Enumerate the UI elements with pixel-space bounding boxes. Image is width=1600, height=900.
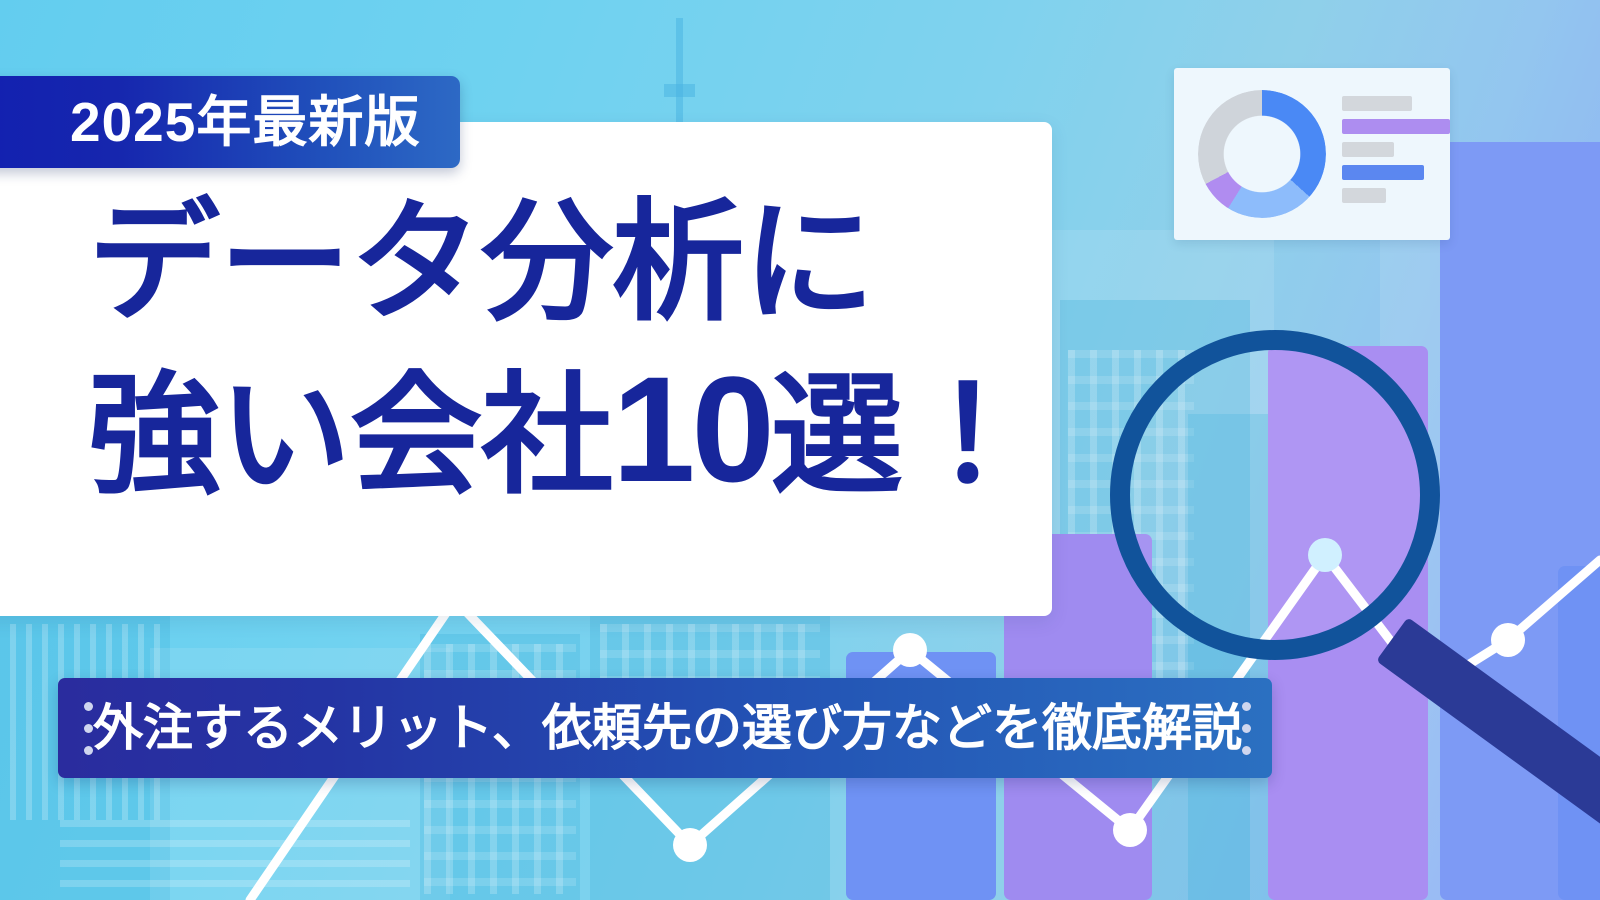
edition-badge-label: 2025年最新版 bbox=[70, 95, 420, 150]
title-line-1: データ分析に bbox=[88, 196, 1028, 331]
poster-canvas: データ分析に 強い会社10選！ 2025年最新版 外注するメリット、依頼先の選び… bbox=[0, 0, 1600, 900]
subtitle-bar: 外注するメリット、依頼先の選び方などを徹底解説 bbox=[58, 678, 1272, 778]
trend-point bbox=[1491, 623, 1525, 657]
magnifier-ring-icon bbox=[1110, 330, 1440, 660]
trend-point bbox=[1113, 813, 1147, 847]
dots-left-decoration bbox=[84, 702, 93, 755]
title-line-2-pre: 強い会社 bbox=[88, 362, 612, 509]
title-count: 10 bbox=[612, 345, 771, 513]
edition-badge: 2025年最新版 bbox=[0, 76, 460, 168]
dots-right-decoration bbox=[1242, 702, 1251, 755]
title-line-2-post: 選！ bbox=[771, 362, 1033, 509]
title-line-2: 強い会社10選！ bbox=[88, 353, 1028, 506]
trend-point bbox=[673, 828, 707, 862]
subtitle-label: 外注するメリット、依頼先の選び方などを徹底解説 bbox=[93, 703, 1242, 753]
trend-point bbox=[893, 633, 927, 667]
page-title: データ分析に 強い会社10選！ bbox=[88, 196, 1028, 506]
